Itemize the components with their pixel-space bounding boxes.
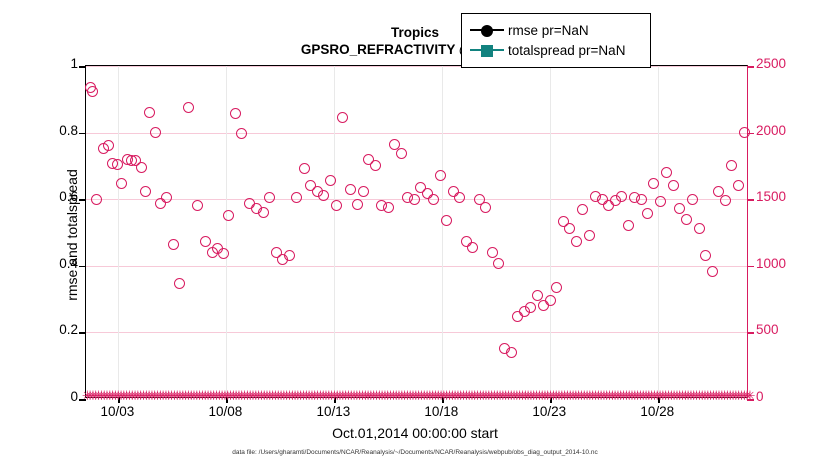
right-axis-tick-label: 500 [756,322,826,337]
left-axis-tick-label: 0.2 [18,322,78,337]
left-axis-tick-label: 0.4 [18,256,78,271]
obs-possible-point [726,160,737,171]
obs-possible-point [183,102,194,113]
obs-possible-point [218,248,229,259]
gridline-vertical [334,66,335,397]
obs-possible-point [435,170,446,181]
right-axis-tick-label: 1500 [756,189,826,204]
legend-item-rmse[interactable]: rmse pr=NaN [470,20,642,40]
obs-possible-point [337,112,348,123]
right-axis-tick-label: 0 [756,389,826,404]
obs-possible-point [103,140,114,151]
obs-possible-point [161,192,172,203]
data-file-footer: data file: /Users/gharamti/Documents/NCA… [0,449,830,456]
obs-possible-point [700,250,711,261]
obs-possible-point [230,108,241,119]
obs-possible-point [571,236,582,247]
obs-possible-point [564,223,575,234]
obs-possible-point [532,290,543,301]
obs-possible-point [584,230,595,241]
left-axis-tick-label: 0 [18,389,78,404]
obs-possible-point [299,163,310,174]
obs-possible-point [487,247,498,258]
right-axis-tick [747,332,754,334]
right-axis-tick [747,266,754,268]
x-axis-tick-label: 10/23 [504,404,594,419]
obs-possible-point [396,148,407,159]
obs-possible-point [525,302,536,313]
obs-possible-point [616,191,627,202]
obs-possible-point [192,200,203,211]
totalspread-marker-icon [470,43,504,57]
obs-possible-point [577,204,588,215]
obs-possible-point [687,194,698,205]
gridline-vertical [550,66,551,397]
legend-label-totalspread: totalspread pr=NaN [504,43,625,58]
obs-possible-point [223,210,234,221]
obs-possible-point [264,192,275,203]
gridlines [86,66,747,397]
obs-possible-point [291,192,302,203]
obs-possible-point [739,127,750,138]
obs-possible-point [668,180,679,191]
left-axis-tick-label: 0.6 [18,189,78,204]
x-axis-tick-label: 10/18 [396,404,486,419]
x-axis-tick-label: 10/13 [288,404,378,419]
obs-possible-point [200,236,211,247]
obs-possible-point [674,203,685,214]
obs-possible-point [694,223,705,234]
right-axis-tick-label: 2500 [756,56,826,71]
obs-possible-point [318,190,329,201]
right-axis-tick-label: 1000 [756,256,826,271]
obs-possible-point [325,175,336,186]
obs-possible-point [140,186,151,197]
x-axis-label: Oct.01,2014 00:00:00 start [0,425,830,441]
obs-possible-point [551,282,562,293]
legend-label-rmse: rmse pr=NaN [504,23,589,38]
obs-possible-point [331,200,342,211]
obs-possible-point [236,128,247,139]
x-axis-tick-label: 10/08 [180,404,270,419]
legend-item-totalspread[interactable]: totalspread pr=NaN [470,40,642,60]
left-axis-tick [79,199,86,201]
obs-possible-point [345,184,356,195]
chart-title-block: Tropics GPSRO_REFRACTIVITY @ 36245 m [0,24,830,59]
chart-subtitle: GPSRO_REFRACTIVITY @ 36245 m [0,41,830,59]
gridline-horizontal [86,332,747,333]
plot-area: ✳✳✳✳✳✳✳✳✳✳✳✳✳✳✳✳✳✳✳✳✳✳✳✳✳✳✳✳✳✳✳✳✳✳✳✳✳✳✳✳… [85,65,748,398]
obs-possible-point [284,250,295,261]
gridline-horizontal [86,133,747,134]
gridline-horizontal [86,266,747,267]
left-axis-tick [79,133,86,135]
obs-possible-point [720,195,731,206]
obs-possible-point [467,242,478,253]
figure-root: Tropics GPSRO_REFRACTIVITY @ 36245 m rms… [0,0,830,470]
gridline-vertical [658,66,659,397]
obs-possible-point [454,192,465,203]
x-axis-tick-label: 10/03 [72,404,162,419]
obs-possible-point [144,107,155,118]
obs-possible-point [480,202,491,213]
obs-possible-point [370,160,381,171]
page-title: Tropics [0,24,830,41]
obs-possible-point [707,266,718,277]
obs-assimilated-point: ✳ [745,393,756,401]
obs-possible-point [636,194,647,205]
obs-possible-point [383,202,394,213]
obs-possible-point [168,239,179,250]
gridline-vertical [226,66,227,397]
obs-possible-point [352,199,363,210]
right-axis-tick [747,199,754,201]
obs-possible-point [174,278,185,289]
rmse-marker-icon [470,23,504,37]
gridline-vertical [118,66,119,397]
right-axis-tick [747,66,754,68]
obs-possible-point [648,178,659,189]
obs-possible-point [506,347,517,358]
obs-possible-point [493,258,504,269]
obs-possible-point [116,178,127,189]
obs-possible-point [655,196,666,207]
obs-possible-point [428,194,439,205]
gridline-vertical [442,66,443,397]
obs-possible-point [87,86,98,97]
left-axis-tick [79,266,86,268]
legend: rmse pr=NaN totalspread pr=NaN [461,13,651,68]
obs-possible-point [681,214,692,225]
obs-possible-point [642,208,653,219]
left-axis-tick-label: 1 [18,56,78,71]
obs-possible-point [258,207,269,218]
obs-possible-point [136,162,147,173]
obs-possible-point [441,215,452,226]
obs-possible-point [91,194,102,205]
obs-possible-point [545,295,556,306]
obs-possible-point [661,167,672,178]
x-axis-tick-label: 10/28 [612,404,702,419]
left-axis-tick-label: 0.8 [18,123,78,138]
left-axis-tick [79,66,86,68]
left-axis-tick [79,332,86,334]
obs-possible-point [409,194,420,205]
obs-possible-point [150,127,161,138]
obs-possible-point [358,186,369,197]
obs-possible-point [623,220,634,231]
right-axis-tick-label: 2000 [756,123,826,138]
obs-possible-point [733,180,744,191]
